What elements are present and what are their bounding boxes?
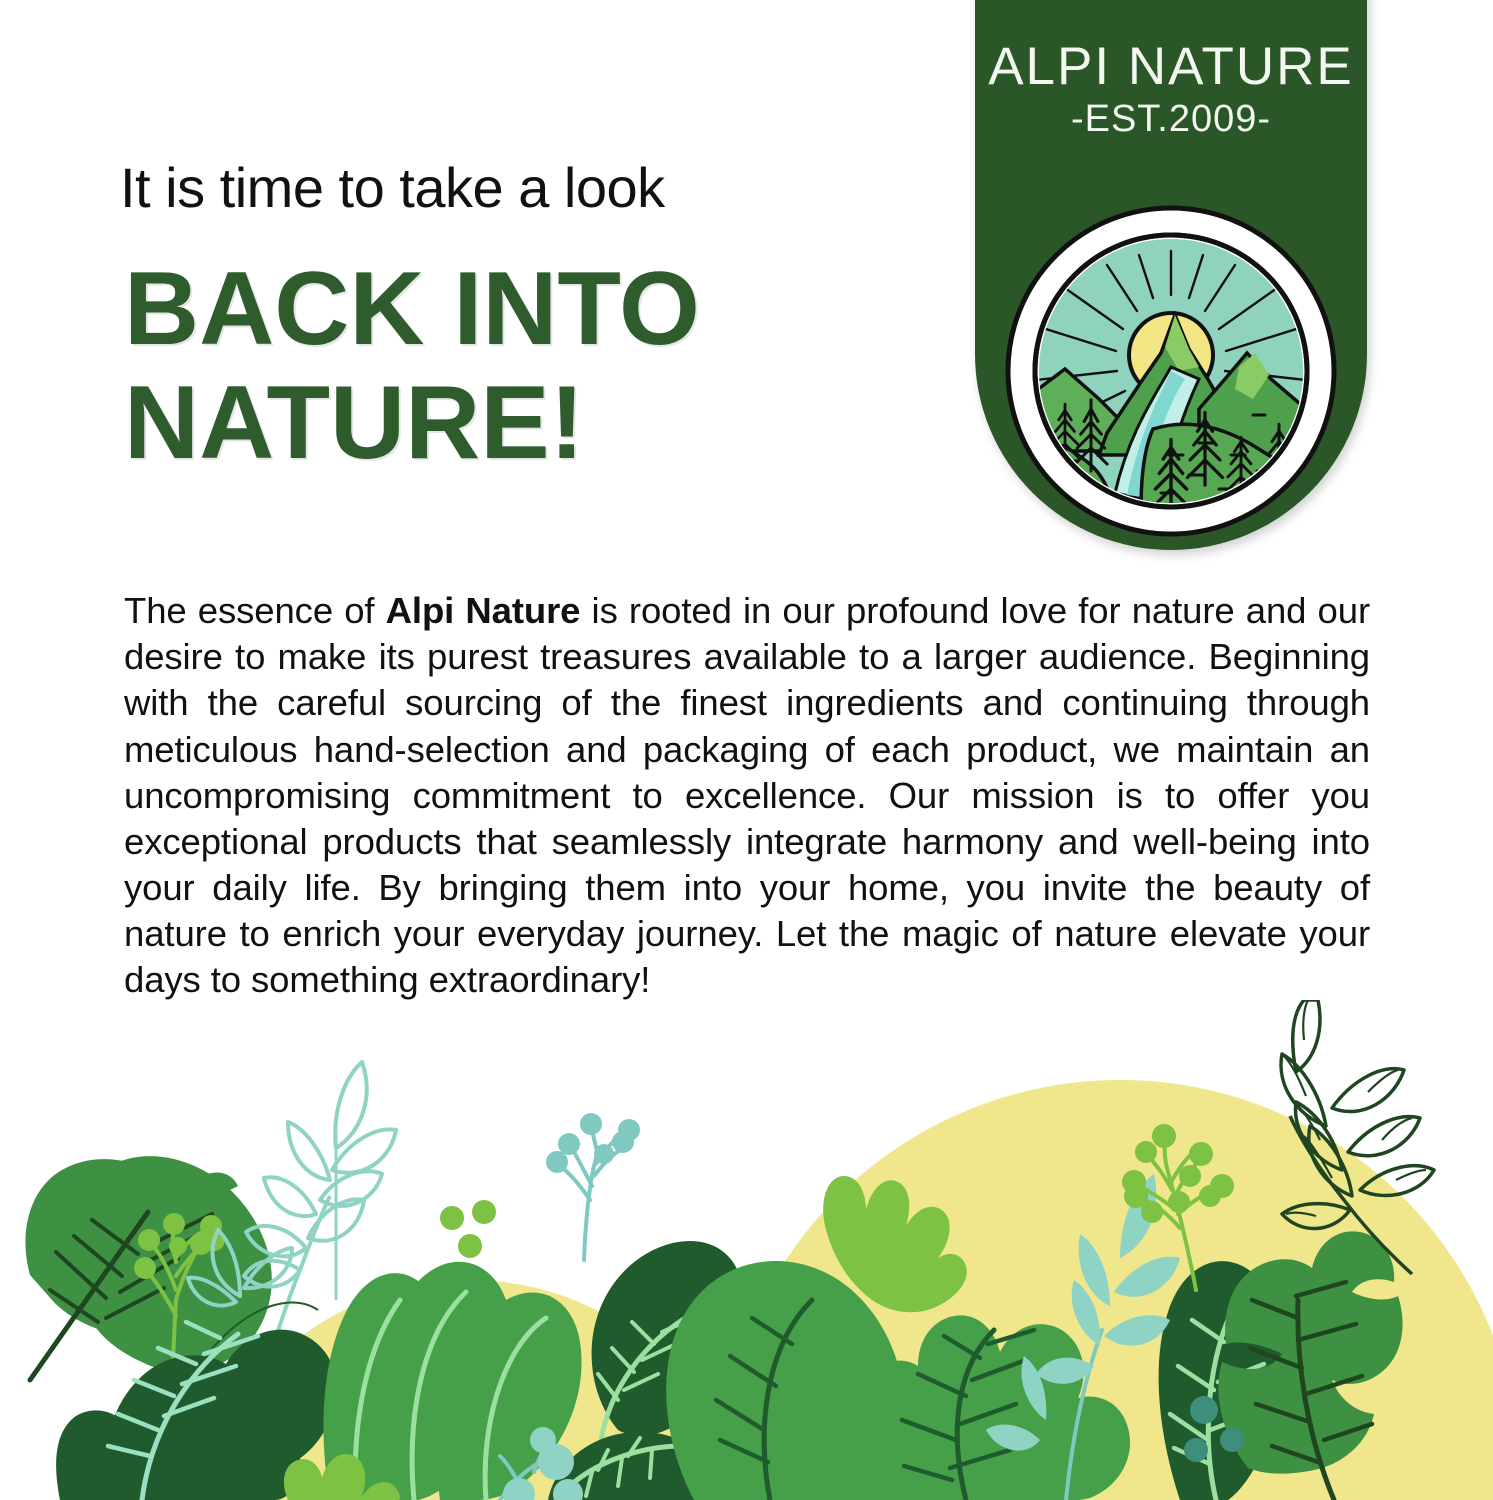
badge-text-block: ALPI NATURE -EST.2009- bbox=[975, 40, 1367, 141]
poster-canvas: ALPI NATURE -EST.2009- bbox=[0, 0, 1493, 1500]
body-paragraph: The essence of Alpi Nature is rooted in … bbox=[124, 588, 1370, 1004]
brand-badge: ALPI NATURE -EST.2009- bbox=[975, 0, 1367, 550]
headline-line-1: BACK INTO bbox=[124, 252, 954, 366]
page-kicker: It is time to take a look bbox=[120, 155, 665, 220]
bottom-foliage-illustration bbox=[0, 1000, 1493, 1500]
headline-line-2: NATURE! bbox=[124, 366, 954, 480]
berry-dots-green-mid bbox=[440, 1200, 496, 1258]
mountain-sun-river-circular-emblem-icon bbox=[1003, 203, 1339, 539]
page-title: BACK INTO NATURE! bbox=[124, 252, 954, 481]
brand-established: -EST.2009- bbox=[975, 98, 1367, 141]
body-part-1: The essence of bbox=[124, 590, 386, 631]
brand-inline-bold: Alpi Nature bbox=[386, 590, 581, 631]
body-part-2: is rooted in our profound love for natur… bbox=[124, 590, 1370, 1000]
brand-name: ALPI NATURE bbox=[975, 40, 1367, 94]
